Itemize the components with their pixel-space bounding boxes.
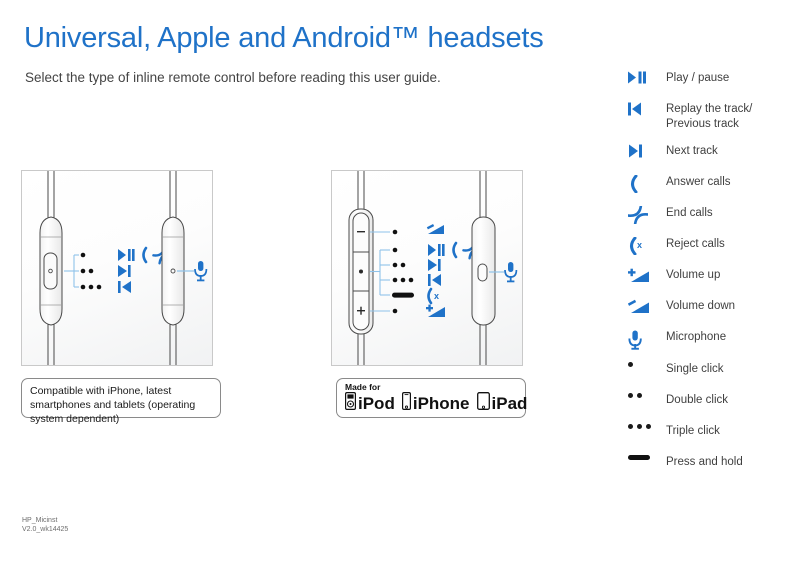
legend-item-press-and-hold: Press and hold: [628, 454, 798, 474]
legend-label: Microphone: [666, 329, 726, 345]
triple-click-icon: [628, 423, 666, 429]
legend-label: End calls: [666, 205, 713, 221]
volume-down-glyph: [357, 231, 365, 232]
press-hold-bar: [392, 293, 414, 298]
volume-up-icon: [628, 267, 666, 284]
legend-item-next-track: Next track: [628, 143, 798, 163]
legend-item-reject-calls: x Reject calls: [628, 236, 798, 256]
row-next-track: [118, 265, 131, 277]
footer-line-1: HP_Micinst: [22, 516, 68, 525]
action-icon-next-track: [428, 259, 441, 271]
legend-list: Play / pause Replay the track/ Previous …: [628, 70, 798, 485]
legend-item-previous-track: Replay the track/ Previous track: [628, 101, 798, 132]
page-subtitle: Select the type of inline remote control…: [25, 70, 441, 85]
click-dots: [81, 253, 102, 290]
legend-item-end-calls: End calls: [628, 205, 798, 225]
legend-item-volume-down: Volume down: [628, 298, 798, 318]
legend-item-triple-click: Triple click: [628, 423, 798, 443]
page-root: Universal, Apple and Android™ headsets S…: [0, 0, 802, 566]
microphone-icon: [195, 261, 206, 281]
reject-call-icon: x: [628, 236, 666, 255]
legend-label: Single click: [666, 361, 724, 377]
universal-caption-text: Compatible with iPhone, latest smartphon…: [30, 384, 212, 426]
ipad-icon: [477, 392, 490, 415]
made-for-devices: iPod iPhone iPad: [345, 392, 517, 415]
legend-item-single-click: Single click: [628, 361, 798, 381]
next-track-icon: [628, 143, 666, 158]
press-hold-icon: [628, 454, 666, 460]
legend-label: Volume up: [666, 267, 720, 283]
legend-label: Double click: [666, 392, 728, 408]
click-dots: [392, 230, 414, 314]
made-for-apple-badge: Made for iPod iPhone: [336, 378, 526, 418]
end-call-icon: [628, 205, 666, 224]
legend-label: Triple click: [666, 423, 720, 439]
universal-compatibility-caption: Compatible with iPhone, latest smartphon…: [21, 378, 221, 418]
legend-label: Press and hold: [666, 454, 743, 470]
page-title: Universal, Apple and Android™ headsets: [24, 22, 544, 55]
action-icon-volume-up: [426, 305, 445, 317]
play-pause-icon: [628, 70, 666, 84]
svg-text:x: x: [637, 240, 642, 250]
callout-bracket: [64, 255, 79, 287]
ipod-label: iPod: [358, 394, 395, 414]
legend-item-volume-up: Volume up: [628, 267, 798, 287]
volume-down-icon: [628, 298, 666, 315]
iphone-label: iPhone: [413, 394, 470, 414]
legend-item-double-click: Double click: [628, 392, 798, 412]
legend-label: Volume down: [666, 298, 735, 314]
ipad-label: iPad: [492, 394, 528, 414]
row-previous-track: [118, 281, 131, 293]
action-icon-previous-track: [428, 274, 441, 286]
microphone-icon: [505, 262, 516, 282]
multifunction-button: [44, 253, 57, 289]
double-click-icon: [628, 392, 666, 398]
svg-text:x: x: [434, 291, 439, 301]
iphone-icon: [402, 392, 411, 415]
legend-label: Play / pause: [666, 70, 729, 86]
legend-label: Replay the track/ Previous track: [666, 101, 752, 132]
universal-remote-diagram[interactable]: [21, 170, 213, 366]
legend-label: Answer calls: [666, 174, 731, 190]
mic-button: [478, 264, 487, 281]
document-footer: HP_Micinst V2.0_wk14425: [22, 516, 68, 534]
previous-track-icon: [628, 101, 666, 116]
answer-call-icon: [628, 174, 666, 193]
legend-item-answer-calls: Answer calls: [628, 174, 798, 194]
footer-line-2: V2.0_wk14425: [22, 525, 68, 534]
action-icon-volume-down: [427, 224, 444, 234]
legend-label: Reject calls: [666, 236, 725, 252]
legend-item-play-pause: Play / pause: [628, 70, 798, 90]
single-click-icon: [628, 361, 666, 367]
legend-label: Next track: [666, 143, 718, 159]
apple-remote-diagram[interactable]: x: [331, 170, 523, 366]
made-for-label: Made for: [345, 382, 517, 392]
action-icon-reject-call: x: [429, 289, 440, 303]
center-button-glyph: [359, 270, 363, 274]
legend-item-microphone: Microphone: [628, 329, 798, 350]
microphone-icon: [628, 329, 666, 350]
ipod-icon: [345, 392, 356, 415]
